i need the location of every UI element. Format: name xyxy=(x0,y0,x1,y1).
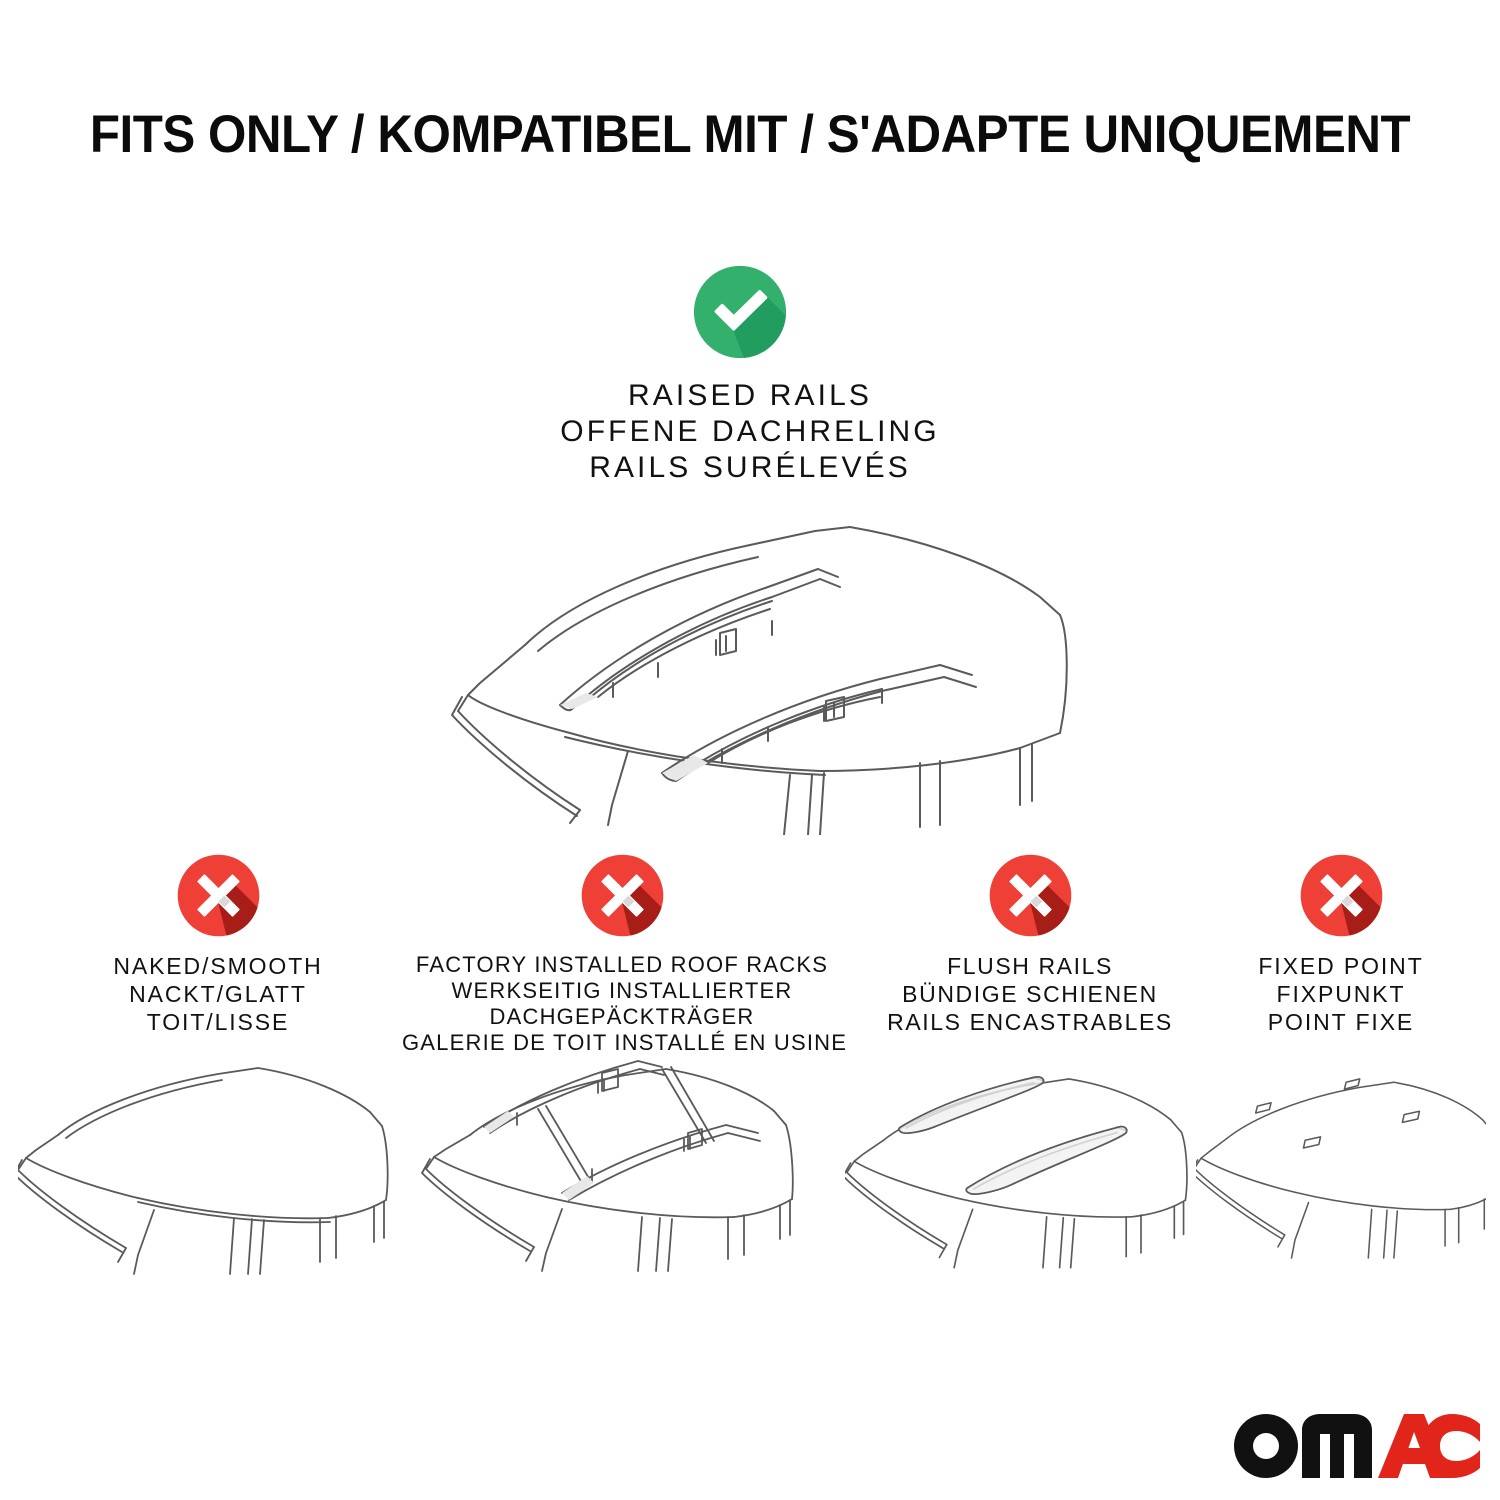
fixed-point-roof-illustration xyxy=(1196,1050,1486,1280)
incompatible-item-factory-roof-racks: FACTORY INSTALLED ROOF RACKS WERKSEITIG … xyxy=(402,845,842,1056)
label-line-2: NACKT/GLATT xyxy=(18,980,418,1008)
compatible-label-line-3: RAILS SURÉLEVÉS xyxy=(0,450,1500,486)
incompatible-label: NAKED/SMOOTH NACKT/GLATT TOIT/LISSE xyxy=(18,952,418,1036)
raised-rails-roof-illustration xyxy=(420,505,1110,835)
label-line-2: BÜNDIGE SCHIENEN xyxy=(845,980,1215,1008)
label-line-1: NAKED/SMOOTH xyxy=(18,952,418,980)
incompatible-item-flush-rails: FLUSH RAILS BÜNDIGE SCHIENEN RAILS ENCAS… xyxy=(845,845,1215,1036)
x-circle-icon xyxy=(176,853,261,938)
label-line-3: DACHGEPÄCKTRÄGER xyxy=(402,1004,842,1030)
label-line-2: FIXPUNKT xyxy=(1196,980,1486,1008)
label-line-3: POINT FIXE xyxy=(1196,1008,1486,1036)
compatible-label-line-2: OFFENE DACHRELING xyxy=(0,414,1500,450)
incompatible-item-fixed-point: FIXED POINT FIXPUNKT POINT FIXE xyxy=(1196,845,1486,1036)
incompatible-label: FLUSH RAILS BÜNDIGE SCHIENEN RAILS ENCAS… xyxy=(845,952,1215,1036)
flush-rails-roof-illustration xyxy=(845,1050,1215,1280)
factory-roof-rack-roof-illustration xyxy=(402,1043,842,1273)
x-circle-icon xyxy=(1299,853,1384,938)
incompatible-item-naked-smooth: NAKED/SMOOTH NACKT/GLATT TOIT/LISSE xyxy=(18,845,418,1036)
infographic-page: FITS ONLY / KOMPATIBEL MIT / S'ADAPTE UN… xyxy=(0,0,1500,1500)
label-line-3: TOIT/LISSE xyxy=(18,1008,418,1036)
naked-smooth-roof-illustration xyxy=(18,1050,418,1280)
incompatible-label: FIXED POINT FIXPUNKT POINT FIXE xyxy=(1196,952,1486,1036)
label-line-1: FACTORY INSTALLED ROOF RACKS xyxy=(402,952,842,978)
incompatible-label: FACTORY INSTALLED ROOF RACKS WERKSEITIG … xyxy=(402,952,842,1056)
incompatible-row: NAKED/SMOOTH NACKT/GLATT TOIT/LISSE xyxy=(0,845,1500,1275)
x-circle-icon xyxy=(988,853,1073,938)
x-circle-icon xyxy=(580,853,665,938)
compatible-label: RAISED RAILS OFFENE DACHRELING RAILS SUR… xyxy=(0,378,1500,486)
compatible-label-line-1: RAISED RAILS xyxy=(0,378,1500,414)
label-line-2: WERKSEITIG INSTALLIERTER xyxy=(402,978,842,1004)
page-title: FITS ONLY / KOMPATIBEL MIT / S'ADAPTE UN… xyxy=(53,104,1448,165)
label-line-3: RAILS ENCASTRABLES xyxy=(845,1008,1215,1036)
omac-logo xyxy=(1232,1402,1480,1482)
label-line-1: FLUSH RAILS xyxy=(845,952,1215,980)
check-circle-icon xyxy=(692,264,788,360)
label-line-1: FIXED POINT xyxy=(1196,952,1486,980)
